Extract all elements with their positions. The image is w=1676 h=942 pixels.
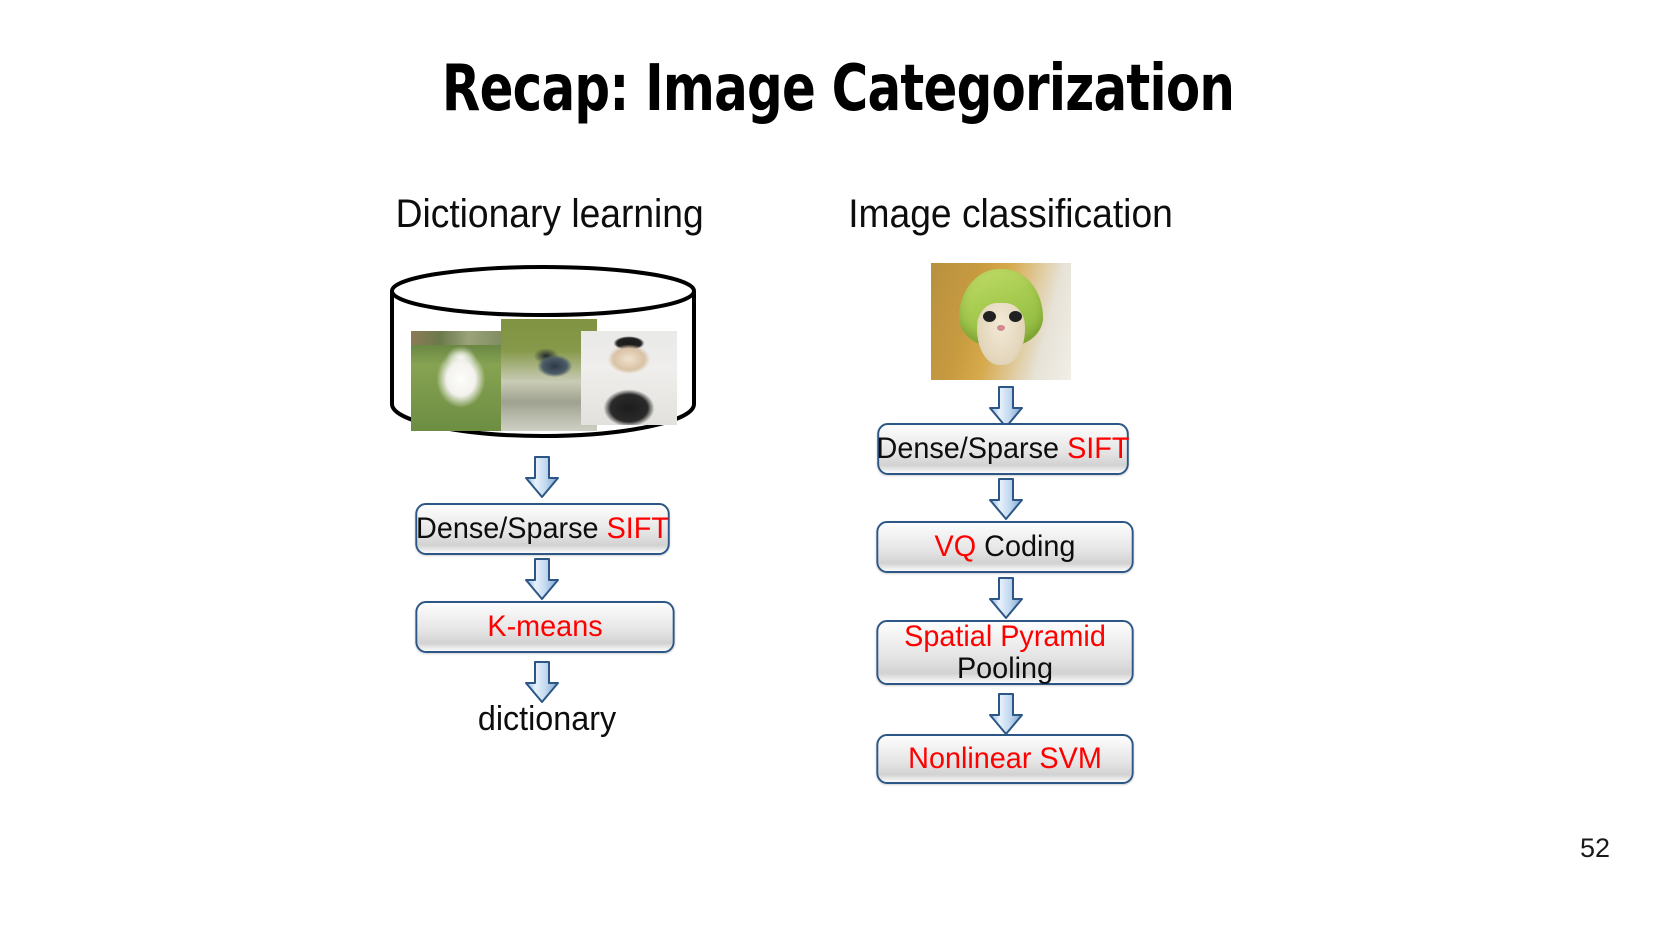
- process-box-vq-coding[interactable]: VQ Coding: [876, 521, 1133, 573]
- process-box-k-means[interactable]: K-means: [415, 601, 674, 653]
- page-number: 52: [1580, 833, 1610, 864]
- output-label-dictionary: dictionary: [466, 700, 628, 739]
- label-coding: Coding: [976, 530, 1075, 563]
- process-box-spatial-pyramid-pooling[interactable]: Spatial PyramidPooling: [876, 620, 1133, 685]
- page-title: Recap: Image Categorization: [184, 52, 1491, 126]
- down-arrow-icon: [988, 576, 1024, 620]
- label-sift: SIFT: [1067, 432, 1129, 465]
- process-box-dense-sparse-sift-right[interactable]: Dense/Sparse SIFT: [877, 423, 1129, 475]
- process-box-dense-sparse-sift-left[interactable]: Dense/Sparse SIFT: [415, 503, 669, 555]
- cat-eye-icon: [1009, 311, 1022, 322]
- label-pooling: Pooling: [957, 652, 1053, 685]
- process-box-nonlinear-svm[interactable]: Nonlinear SVM: [876, 734, 1133, 784]
- label-nonlinear-svm: Nonlinear SVM: [908, 744, 1102, 775]
- cat-eye-icon: [983, 311, 996, 322]
- label-k-means: K-means: [487, 612, 602, 643]
- column-heading-image-classification: Image classification: [848, 192, 1173, 237]
- down-arrow-icon: [524, 660, 560, 704]
- down-arrow-icon: [524, 455, 560, 499]
- down-arrow-icon: [524, 557, 560, 601]
- label-spatial-pyramid: Spatial Pyramid: [904, 620, 1106, 653]
- photo-white-poodle: [411, 331, 507, 431]
- down-arrow-icon: [988, 477, 1024, 521]
- down-arrow-icon: [988, 692, 1024, 736]
- label-vq: VQ: [935, 530, 977, 563]
- label-sift: SIFT: [607, 512, 669, 545]
- cat-nose-icon: [997, 325, 1005, 331]
- column-heading-dictionary-learning: Dictionary learning: [396, 192, 704, 237]
- label-dense-sparse: Dense/Sparse: [416, 512, 607, 545]
- label-dense-sparse: Dense/Sparse: [877, 432, 1068, 465]
- photo-dog-in-hat: [581, 331, 677, 425]
- input-image-cat: [931, 263, 1071, 380]
